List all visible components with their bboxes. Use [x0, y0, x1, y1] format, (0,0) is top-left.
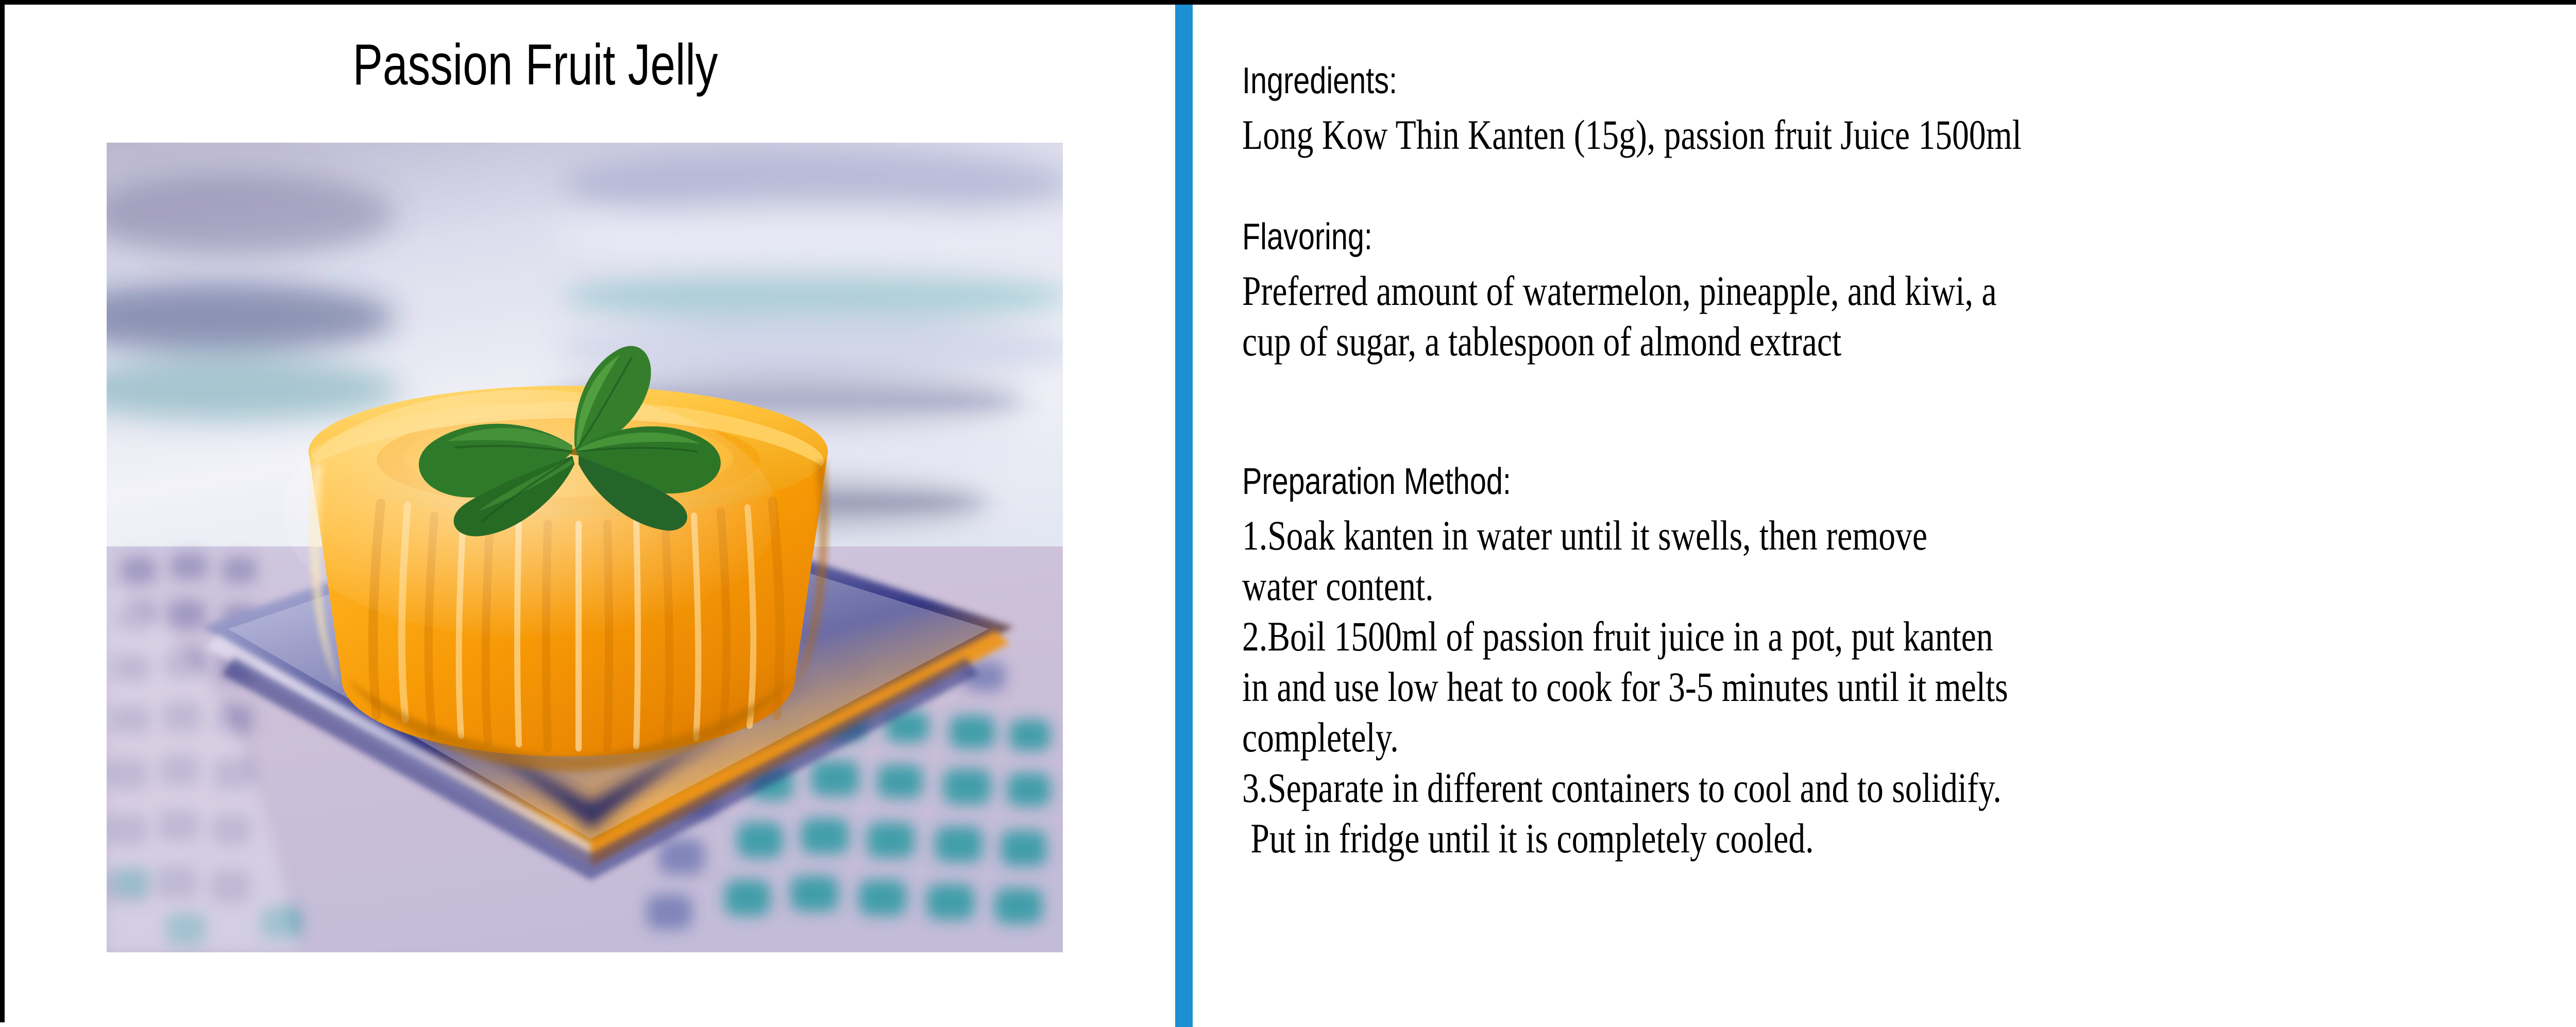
method-line-1: 1.Soak kanten in water until it swells, …: [1242, 515, 2008, 557]
right-column: Ingredients: Long Kow Thin Kanten (15g),…: [1242, 5, 2561, 1027]
page-title: Passion Fruit Jelly: [122, 35, 950, 95]
vertical-divider: [1175, 5, 1193, 1027]
ingredients-heading: Ingredients:: [1242, 62, 2022, 99]
flavoring-section: Flavoring: Preferred amount of watermelo…: [1242, 218, 2185, 363]
dish-photo: [107, 143, 1063, 952]
flavoring-line-2: cup of sugar, a tablespoon of almond ext…: [1242, 320, 1997, 363]
flavoring-heading: Flavoring:: [1242, 218, 1997, 255]
method-line-3: 2.Boil 1500ml of passion fruit juice in …: [1242, 615, 2008, 658]
recipe-card: Passion Fruit Jelly: [0, 0, 2576, 1022]
ingredients-body: Long Kow Thin Kanten (15g), passion frui…: [1242, 114, 2216, 156]
method-line-2: water content.: [1242, 565, 2008, 607]
ingredients-line-1: Long Kow Thin Kanten (15g), passion frui…: [1242, 114, 2022, 156]
left-column: Passion Fruit Jelly: [5, 5, 1175, 1027]
preparation-method-body: 1.Soak kanten in water until it swells, …: [1242, 515, 2199, 860]
method-line-4: in and use low heat to cook for 3-5 minu…: [1242, 666, 2008, 708]
method-line-7: Put in fridge until it is completely coo…: [1242, 817, 2008, 860]
preparation-method-section: Preparation Method: 1.Soak kanten in wat…: [1242, 463, 2199, 860]
ingredients-section: Ingredients: Long Kow Thin Kanten (15g),…: [1242, 62, 2216, 156]
flavoring-body: Preferred amount of watermelon, pineappl…: [1242, 270, 2185, 363]
method-line-5: completely.: [1242, 716, 2008, 759]
preparation-method-heading: Preparation Method:: [1242, 463, 2008, 500]
flavoring-line-1: Preferred amount of watermelon, pineappl…: [1242, 270, 1997, 312]
method-line-6: 3.Separate in different containers to co…: [1242, 767, 2008, 809]
dish-photo-illustration: [107, 143, 1063, 952]
